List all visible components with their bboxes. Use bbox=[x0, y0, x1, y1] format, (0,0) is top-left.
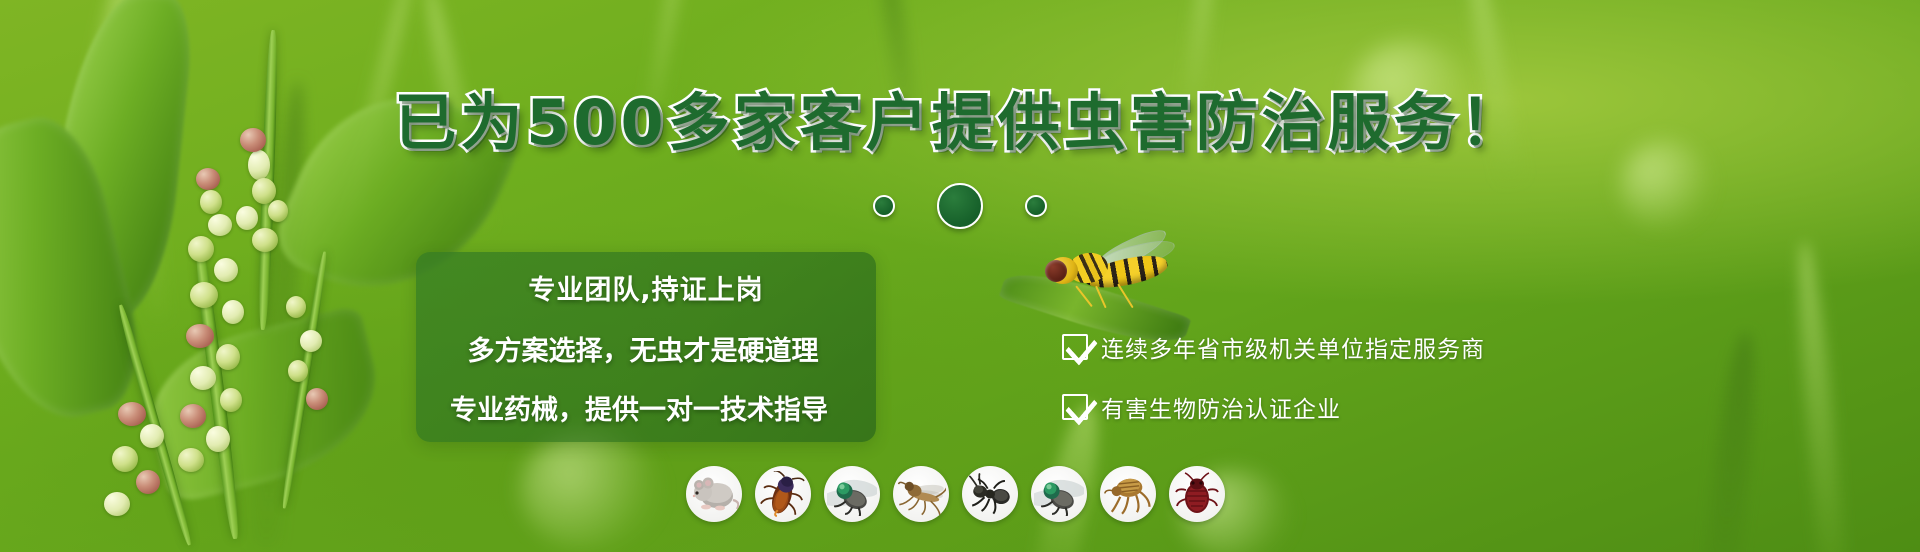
bedbug-icon bbox=[1169, 466, 1225, 522]
promo-banner: 已为500多家客户提供虫害防治服务！ 专业团队,持证上岗 多方案选择，无虫才是硬… bbox=[0, 0, 1920, 552]
decor-dot-small-right bbox=[1025, 195, 1047, 217]
pest-icon-row bbox=[686, 466, 1225, 522]
decor-dot-small-left bbox=[873, 195, 895, 217]
checkmark-icon bbox=[1062, 334, 1088, 360]
list-item: 有害生物防治认证企业 bbox=[1062, 390, 1762, 424]
cockroach-icon bbox=[755, 466, 811, 522]
feature-line-2: 多方案选择，无虫才是硬道理 bbox=[410, 329, 876, 368]
mouse-icon bbox=[686, 466, 742, 522]
feature-line-3: 专业药械，提供一对一技术指导 bbox=[402, 388, 876, 427]
credential-text: 连续多年省市级机关单位指定服务商 bbox=[1101, 330, 1485, 364]
headline-text: 已为500多家客户提供虫害防治服务！ bbox=[394, 86, 1525, 159]
credentials-list: 连续多年省市级机关单位指定服务商 有害生物防治认证企业 bbox=[1062, 330, 1762, 450]
decor-dot-large-center bbox=[937, 183, 983, 229]
page-title: 已为500多家客户提供虫害防治服务！ bbox=[0, 72, 1920, 162]
feature-panel: 专业团队,持证上岗 多方案选择，无虫才是硬道理 专业药械，提供一对一技术指导 bbox=[416, 252, 876, 442]
flea-icon bbox=[1100, 466, 1156, 522]
hoverfly-eye bbox=[1045, 260, 1067, 282]
mosquito-icon bbox=[893, 466, 949, 522]
credential-text: 有害生物防治认证企业 bbox=[1101, 390, 1341, 424]
ant-icon bbox=[962, 466, 1018, 522]
feature-line-1: 专业团队,持证上岗 bbox=[416, 268, 876, 307]
decorative-dots bbox=[0, 183, 1920, 229]
checkmark-icon bbox=[1062, 394, 1088, 420]
list-item: 连续多年省市级机关单位指定服务商 bbox=[1062, 330, 1762, 364]
blowfly-icon bbox=[1031, 466, 1087, 522]
fly-icon bbox=[824, 466, 880, 522]
hoverfly-icon bbox=[1040, 243, 1180, 303]
